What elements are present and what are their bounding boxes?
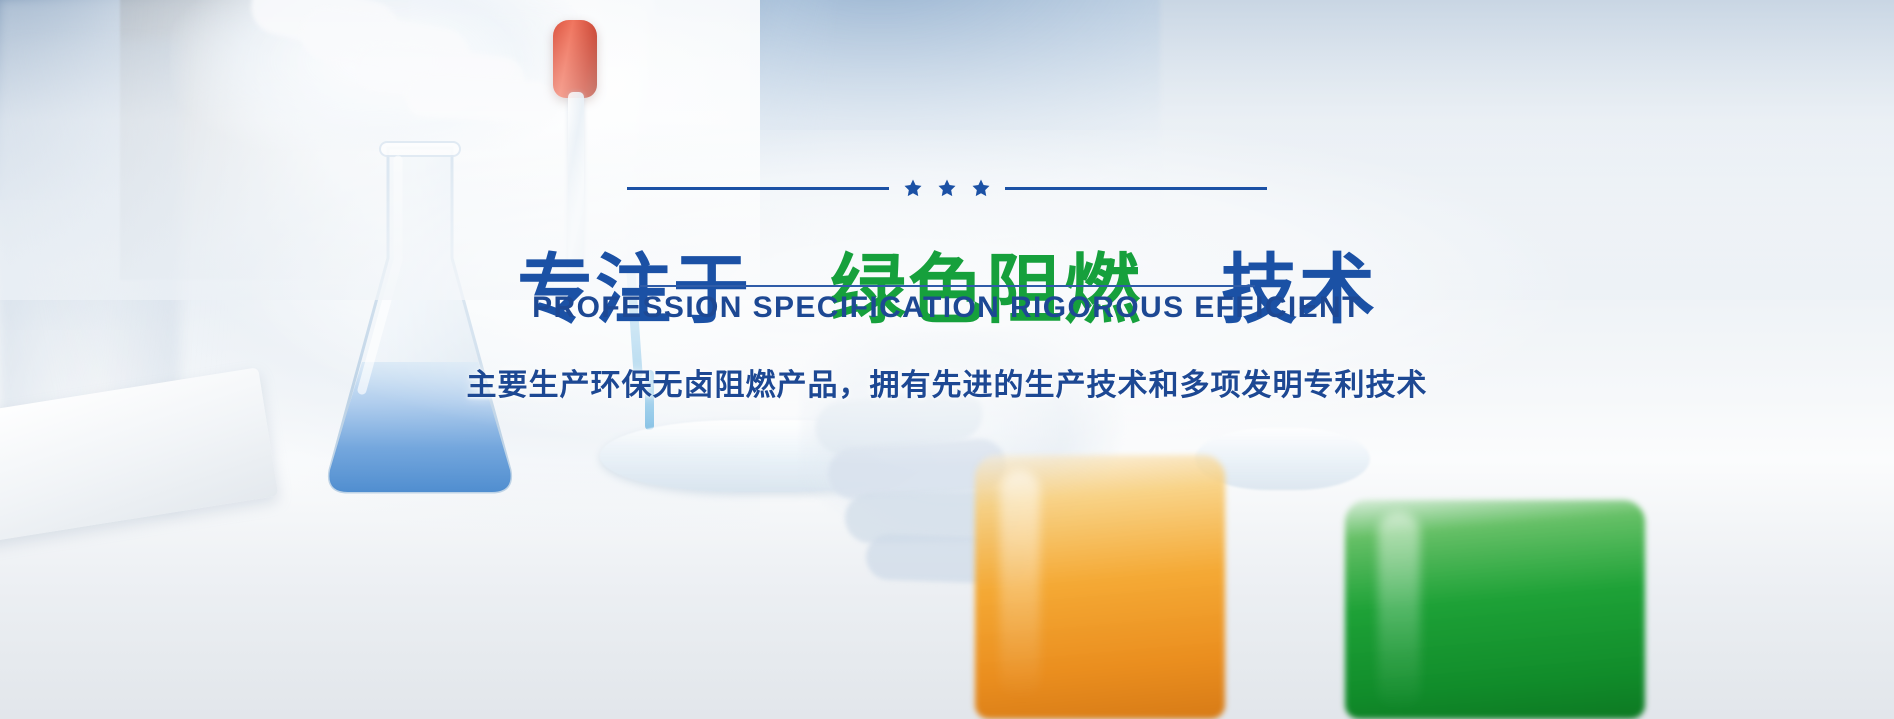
green-beaker-highlight: [1378, 512, 1420, 712]
hero-banner: 专注于 绿色阻燃 技术 PROFESSION SPECIFICATION RIG…: [0, 0, 1894, 719]
tagline-chinese: 主要生产环保无卤阻燃产品，拥有先进的生产技术和多项发明专利技术: [467, 360, 1428, 404]
orange-beaker-highlight: [1000, 470, 1040, 700]
headline-underline: [639, 285, 1255, 287]
divider-line-left: [627, 187, 889, 190]
star-icon: [937, 178, 957, 198]
star-group: [903, 178, 991, 198]
divider-line-right: [1005, 187, 1267, 190]
star-icon: [971, 178, 991, 198]
star-icon: [903, 178, 923, 198]
divider: [627, 178, 1267, 198]
subtitle-english: PROFESSION SPECIFICATION RIGOROUS EFFICI…: [532, 291, 1362, 325]
